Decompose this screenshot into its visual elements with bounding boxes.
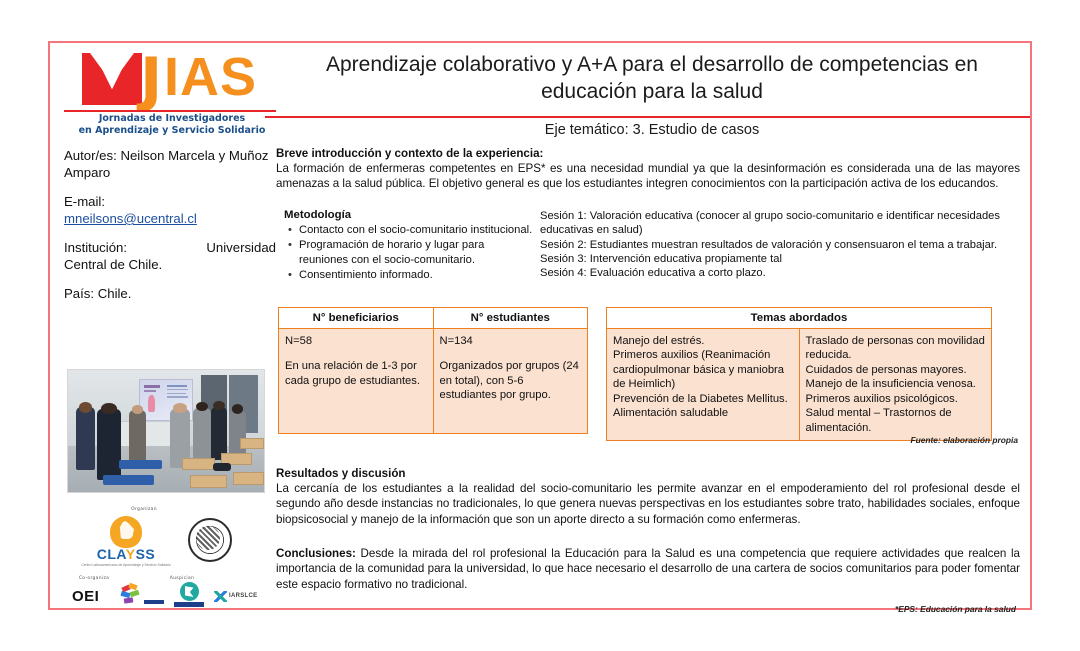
photo-backpack <box>213 463 231 472</box>
results-heading: Resultados y discusión <box>276 467 1020 480</box>
conclusions-section: Conclusiones: Desde la mirada del rol pr… <box>276 546 1020 592</box>
colored-bird-icon <box>120 584 144 606</box>
list-item: Programación de horario y lugar para reu… <box>299 238 534 267</box>
university-seal-icon <box>188 518 232 562</box>
results-section: Resultados y discusión La cercanía de lo… <box>276 467 1020 527</box>
photo-slide-line <box>144 385 160 387</box>
email-link[interactable]: mneilsons@ucentral.cl <box>64 211 197 226</box>
cell-estudiantes: N=134 Organizados por grupos (24 en tota… <box>433 328 588 433</box>
hand-icon <box>110 516 142 548</box>
eje-tematico-label: Eje temático: 3. Estudio de casos <box>282 122 1022 138</box>
photo-person-head <box>232 404 244 414</box>
poster-canvas: J IAS Jornadas de Investigadores en Apre… <box>48 41 1032 610</box>
methodology-heading: Metodología <box>284 209 534 221</box>
intro-section: Breve introducción y contexto de la expe… <box>276 147 1020 192</box>
photo-exercise-mat <box>119 460 162 469</box>
list-item: Sesión 4: Evaluación educativa a corto p… <box>540 266 1020 280</box>
authors-label: Autor/es: <box>64 148 117 163</box>
bird-feather-icon <box>124 597 134 603</box>
tables-row: N° beneficiarios N° estudiantes N=58 En … <box>276 307 1020 439</box>
main-content: Breve introducción y contexto de la expe… <box>276 147 1020 614</box>
photo-slide-line <box>167 393 186 394</box>
topics-table: Temas abordados Manejo del estrés. Prime… <box>606 307 992 442</box>
sponsor-logos: Organizan CLAYSS Centro Latinoamericano … <box>64 507 276 616</box>
ministerio-bar <box>144 600 164 604</box>
photo-desk <box>182 458 215 470</box>
iarslce-mark-icon <box>214 591 227 602</box>
column-header-estudiantes: N° estudiantes <box>433 307 588 328</box>
results-body: La cercanía de los estudiantes a la real… <box>276 481 1020 527</box>
logo-subtitle: Jornadas de Investigadores en Aprendizaj… <box>64 113 280 137</box>
logo-red-rule <box>64 110 276 112</box>
list-item: Contacto con el socio-comunitario instit… <box>299 223 534 237</box>
conclusions-body: Desde la mirada del rol profesional la E… <box>276 547 1020 591</box>
methodology-list: Contacto con el socio-comunitario instit… <box>284 223 534 283</box>
photo-slide-figure <box>148 395 155 412</box>
photo-cabinet <box>119 421 176 447</box>
universidades-emblem-icon <box>180 582 199 601</box>
classroom-photo <box>67 369 265 493</box>
iarslce-logo: IARSLCE <box>214 590 268 606</box>
institution-label: Institución: <box>64 239 127 256</box>
universidades-bar <box>174 602 204 607</box>
photo-person <box>193 408 211 465</box>
sponsors-organizan-caption: Organizan <box>64 507 224 512</box>
fuente-caption: Fuente: elaboración propia <box>911 435 1019 445</box>
photo-person-head <box>213 401 225 411</box>
table-header-row: Temas abordados <box>607 307 992 328</box>
email-block: E-mail: mneilsons@ucentral.cl <box>64 193 276 227</box>
cell-beneficiarios: N=58 En una relación de 1-3 por cada gru… <box>279 328 434 433</box>
intro-body: La formación de enfermeras competentes e… <box>276 161 1020 192</box>
clayss-logo: CLAYSS Centro Latinoamericano de Aprendi… <box>78 516 174 567</box>
cell-temas-left: Manejo del estrés. Primeros auxilios (Re… <box>607 328 800 441</box>
logo-j-letter: J <box>140 51 162 109</box>
photo-person-head <box>79 402 93 413</box>
photo-person <box>76 407 96 470</box>
photo-person-head <box>101 403 117 414</box>
email-label: E-mail: <box>64 193 276 210</box>
counts-table: N° beneficiarios N° estudiantes N=58 En … <box>278 307 588 434</box>
sponsors-auspician-caption: Auspician <box>156 576 208 581</box>
column-header-beneficiarios: N° beneficiarios <box>279 307 434 328</box>
eps-footnote: *EPS: Educación para la salud <box>276 604 1020 614</box>
vijias-logo: J IAS Jornadas de Investigadores en Apre… <box>64 47 282 155</box>
poster-header: J IAS Jornadas de Investigadores en Apre… <box>50 43 1030 145</box>
estudiantes-detail: Organizados por grupos (24 en total), co… <box>440 360 579 401</box>
list-item: Consentimiento informado. <box>299 268 534 282</box>
institution-value-b: Central de Chile. <box>64 256 276 273</box>
beneficiarios-detail: En una relación de 1-3 por cada grupo de… <box>285 360 420 387</box>
photo-person <box>97 409 121 480</box>
authors-block: Autor/es: Neilson Marcela y Muñoz Amparo <box>64 147 276 181</box>
list-item: Sesión 2: Estudiantes muestran resultado… <box>540 238 1020 252</box>
oei-logo: OEI <box>72 588 99 605</box>
institution-value-a: Universidad <box>206 239 276 256</box>
photo-desk <box>240 438 264 449</box>
iarslce-wordmark: IARSLCE <box>229 593 257 599</box>
conclusions-label: Conclusiones: <box>276 547 356 560</box>
list-item: Sesión 3: Intervención educativa propiam… <box>540 252 1020 266</box>
page-title: Aprendizaje colaborativo y A+A para el d… <box>282 51 1022 105</box>
vijias-logo-mark: J IAS <box>64 47 276 109</box>
table-row: N=58 En una relación de 1-3 por cada gru… <box>279 328 588 433</box>
sponsor-row-secondary: Co-organiza Auspician OEI <box>64 576 276 616</box>
cell-temas-right: Traslado de personas con movilidad reduc… <box>799 328 992 441</box>
spacer <box>285 348 427 359</box>
estudiantes-value: N=134 <box>440 335 473 347</box>
photo-desk <box>233 472 264 485</box>
header-text-block: Aprendizaje colaborativo y A+A para el d… <box>282 51 1022 105</box>
photo-desk <box>190 475 227 488</box>
logo-subtitle-line2: en Aprendizaje y Servicio Solidario <box>64 125 280 137</box>
country-label: País: Chile. <box>64 285 276 302</box>
clayss-wordmark: CLAYSS <box>78 546 174 562</box>
photo-exercise-mat <box>103 475 154 485</box>
bird-feather-icon <box>129 590 139 598</box>
sponsors-coorganiza-caption: Co-organiza <box>70 576 118 581</box>
logo-subtitle-line1: Jornadas de Investigadores <box>64 113 280 125</box>
methodology-section: Metodología Contacto con el socio-comuni… <box>284 209 534 284</box>
intro-heading: Breve introducción y contexto de la expe… <box>276 147 1020 160</box>
list-item: Sesión 1: Valoración educativa (conocer … <box>540 209 1020 238</box>
table-header-row: N° beneficiarios N° estudiantes <box>279 307 588 328</box>
sponsor-row-primary: CLAYSS Centro Latinoamericano de Aprendi… <box>64 514 276 562</box>
clayss-tagline: Centro Latinoamericano de Aprendizaje y … <box>78 563 174 567</box>
ministerio-logo <box>120 584 166 608</box>
institution-row: Institución: Universidad <box>64 239 276 256</box>
spacer <box>440 348 582 359</box>
methodology-sessions-row: Metodología Contacto con el socio-comuni… <box>276 209 1020 295</box>
seal-inner-icon <box>196 526 220 550</box>
photo-person-head <box>173 403 187 413</box>
institution-block: Institución: Universidad Central de Chil… <box>64 239 276 273</box>
logo-ias-letters: IAS <box>164 49 257 105</box>
photo-slide-line <box>167 385 187 387</box>
column-header-temas: Temas abordados <box>607 307 992 328</box>
poster-body: Autor/es: Neilson Marcela y Muñoz Amparo… <box>50 147 1030 608</box>
universidades-logo <box>172 582 206 610</box>
header-divider <box>265 116 1030 118</box>
photo-slide-line <box>167 389 188 390</box>
sessions-section: Sesión 1: Valoración educativa (conocer … <box>540 209 1020 281</box>
table-row: Manejo del estrés. Primeros auxilios (Re… <box>607 328 992 441</box>
photo-slide-line <box>144 390 157 392</box>
photo-person <box>129 410 147 466</box>
photo-slide-line <box>167 396 188 397</box>
sidebar: Autor/es: Neilson Marcela y Muñoz Amparo… <box>64 147 276 314</box>
beneficiarios-value: N=58 <box>285 335 312 347</box>
